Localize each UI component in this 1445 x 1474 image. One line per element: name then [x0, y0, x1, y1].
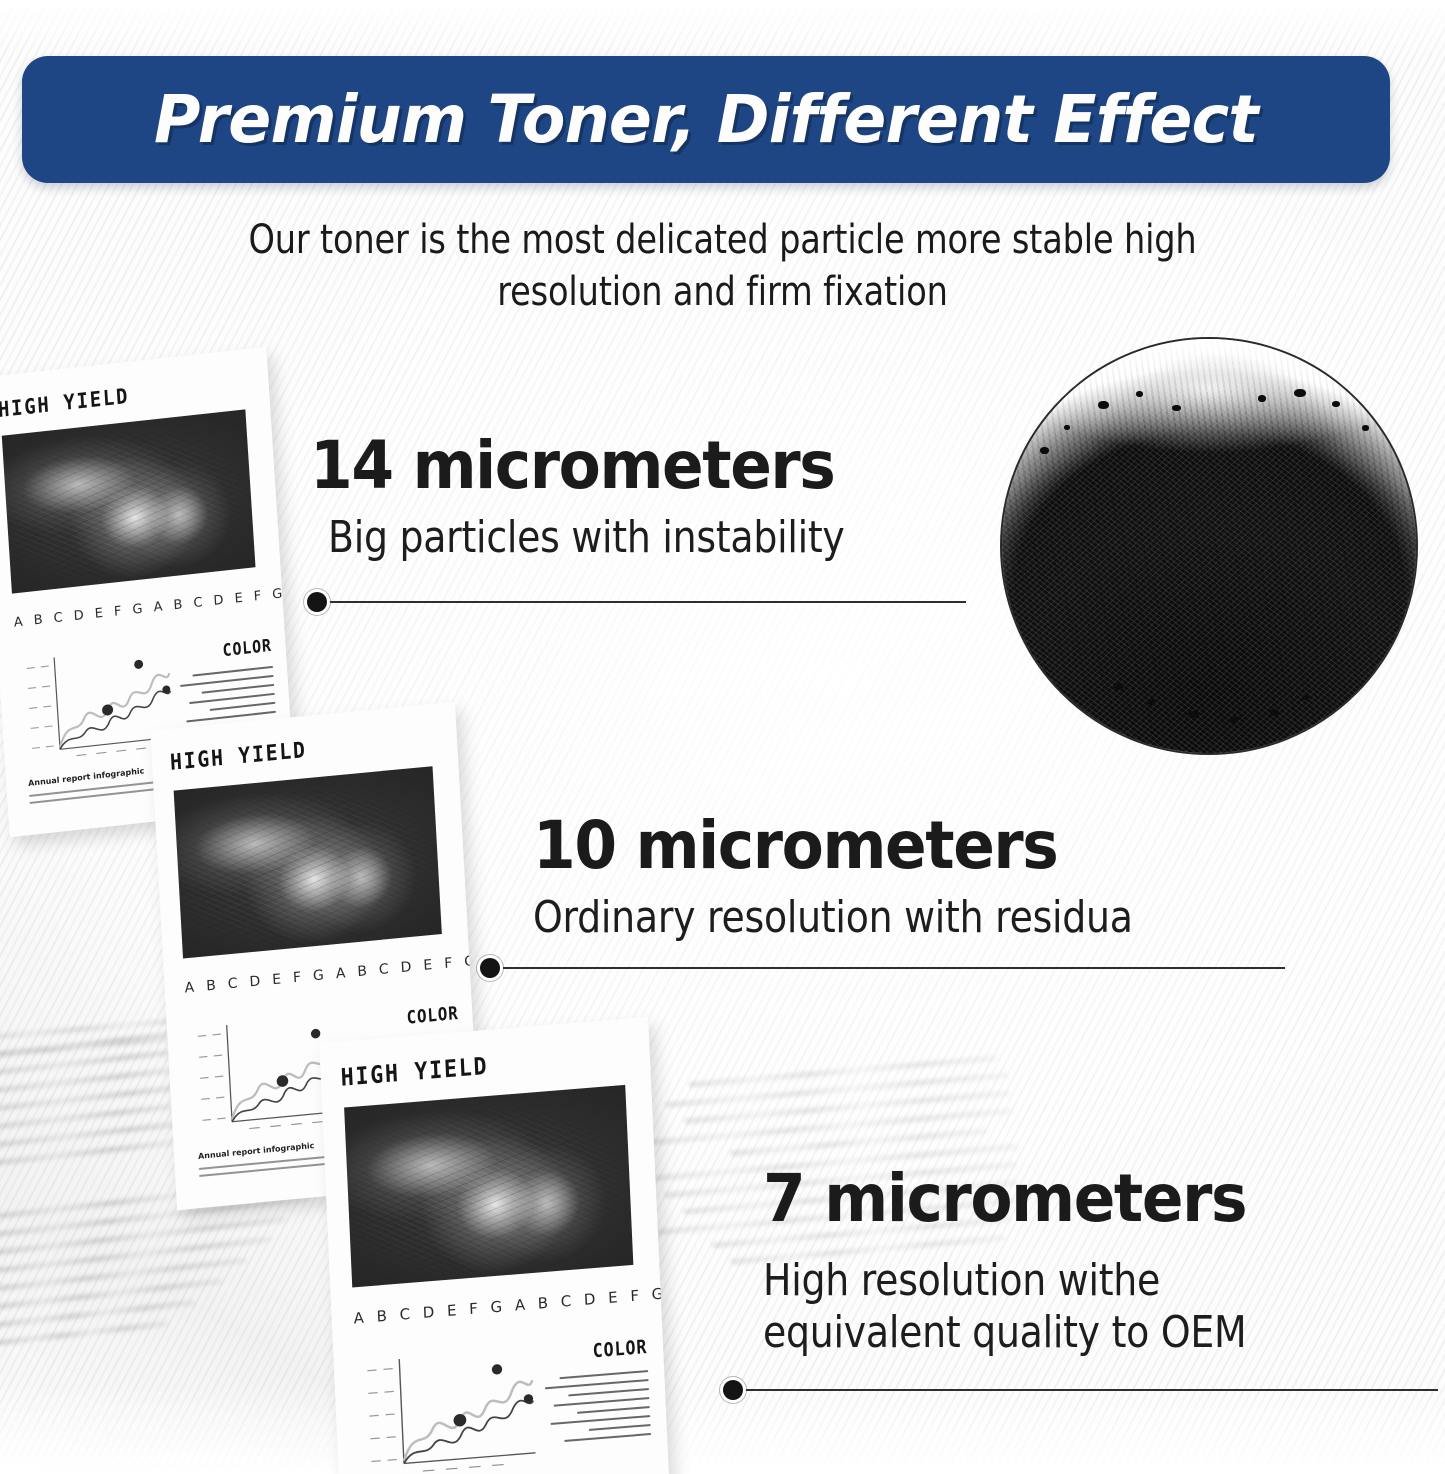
callout-10: 10 micrometers Ordinary resolution with …	[533, 812, 1230, 944]
sheet-letters-row: A B C D E F G A B C D E F G	[184, 953, 479, 997]
printed-sheet-3: HIGH YIELD A B C D E F G A B C D E F G	[319, 1017, 671, 1474]
callout-7: 7 micrometers High resolution withe equi…	[763, 1165, 1325, 1359]
callout-14: 14 micrometers Big particles with instab…	[310, 432, 929, 564]
sheet-color-heading: COLOR	[222, 636, 272, 661]
sheet-letters-row: A B C D E F G A B C D E F G	[13, 586, 286, 631]
callout-desc-line-2: equivalent quality to OEM	[763, 1307, 1246, 1359]
sheet-color-body	[544, 1370, 651, 1450]
sheet-photo	[174, 766, 442, 958]
sheet-chart	[357, 1339, 539, 1474]
callout-rule-10	[495, 967, 1285, 969]
callout-rule-14	[322, 601, 966, 603]
subtitle-line-2: resolution and firm fixation	[208, 266, 1237, 318]
sheet-title: HIGH YIELD	[340, 1052, 489, 1092]
subtitle-line-1: Our toner is the most delicated particle…	[208, 214, 1237, 266]
callout-desc-line-1: Big particles with instability	[328, 512, 845, 564]
callout-value: 14 micrometers	[310, 432, 885, 500]
page-title: Premium Toner, Different Effect	[49, 81, 1362, 158]
callout-dot-14	[307, 592, 327, 612]
toner-grain-texture	[1002, 339, 1416, 753]
callout-rule-7	[738, 1389, 1438, 1391]
toner-powder-photo	[1000, 337, 1418, 755]
sheet-title: HIGH YIELD	[169, 738, 307, 776]
header-banner: Premium Toner, Different Effect	[22, 56, 1390, 183]
sheet-photo	[2, 409, 256, 593]
sheet-photo	[344, 1085, 633, 1288]
sheet-color-heading: COLOR	[406, 1003, 459, 1029]
subtitle: Our toner is the most delicated particle…	[208, 214, 1237, 318]
callout-value: 7 micrometers	[763, 1165, 1286, 1233]
callout-dot-7	[723, 1380, 743, 1400]
callout-dot-10	[480, 958, 500, 978]
callout-desc-line-1: Ordinary resolution with residua	[533, 892, 1133, 944]
callout-value: 10 micrometers	[533, 812, 1182, 880]
sheet-title: HIGH YIELD	[0, 384, 130, 422]
callout-desc-line-1: High resolution withe	[763, 1255, 1246, 1307]
infographic-page: Premium Toner, Different Effect Our tone…	[0, 0, 1445, 1474]
sheet-letters-row: A B C D E F G A B C D E F G	[353, 1284, 667, 1327]
sheet-color-heading: COLOR	[592, 1336, 648, 1362]
